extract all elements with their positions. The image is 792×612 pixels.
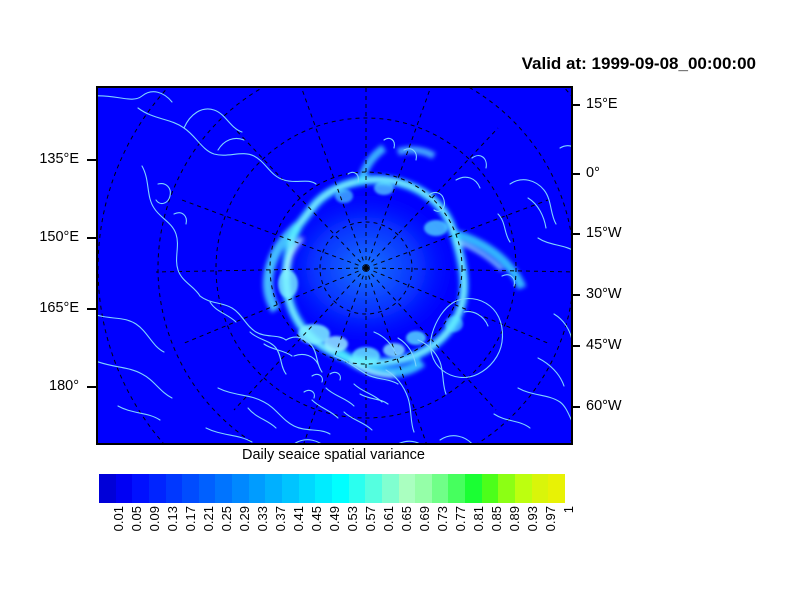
- right-tick-mark: [571, 104, 580, 106]
- colorbar-segment: [432, 474, 449, 503]
- colorbar-tick-label: 0.09: [148, 506, 161, 531]
- right-tick-mark: [571, 294, 580, 296]
- colorbar-segment: [116, 474, 133, 503]
- left-tick-mark: [87, 386, 96, 388]
- colorbar-tick-labels: 0.010.050.090.130.170.210.250.290.330.37…: [98, 506, 566, 566]
- left-tick-label: 180°: [49, 379, 79, 394]
- colorbar-tick-label: 0.85: [490, 506, 503, 531]
- colorbar-tick-label: 0.57: [364, 506, 377, 531]
- colorbar-segment: [332, 474, 349, 503]
- colorbar-segment: [132, 474, 149, 503]
- right-tick-label: 45°W: [586, 338, 622, 353]
- colorbar-segment: [415, 474, 432, 503]
- colorbar-tick-label: 0.21: [202, 506, 215, 531]
- colorbar-segment: [199, 474, 216, 503]
- colorbar-tick-label: 0.17: [184, 506, 197, 531]
- colorbar-tick-label: 0.93: [526, 506, 539, 531]
- right-tick-mark: [571, 233, 580, 235]
- colorbar-tick-label: 0.73: [436, 506, 449, 531]
- colorbar-segment: [498, 474, 515, 503]
- colorbar-segment: [548, 474, 565, 503]
- colorbar-tick-label: 0.97: [544, 506, 557, 531]
- page-title: Valid at: 1999-09-08_00:00:00: [522, 54, 756, 74]
- right-tick-label: 30°W: [586, 287, 622, 302]
- left-tick-mark: [87, 159, 96, 161]
- right-tick-label: 15°W: [586, 226, 622, 241]
- right-tick-label: 60°W: [586, 399, 622, 414]
- colorbar-tick-label: 0.25: [220, 506, 233, 531]
- left-tick-label: 165°E: [39, 301, 79, 316]
- left-tick-mark: [87, 237, 96, 239]
- colorbar-segment: [482, 474, 499, 503]
- colorbar-segment: [465, 474, 482, 503]
- left-tick-label: 135°E: [39, 152, 79, 167]
- colorbar-tick-label: 0.41: [292, 506, 305, 531]
- colorbar-tick-label: 0.13: [166, 506, 179, 531]
- colorbar-tick-label: 0.53: [346, 506, 359, 531]
- colorbar-segment: [232, 474, 249, 503]
- colorbar[interactable]: [98, 473, 566, 504]
- colorbar-tick-label: 0.89: [508, 506, 521, 531]
- right-tick-label: 15°E: [586, 97, 618, 112]
- colorbar-tick-label: 0.81: [472, 506, 485, 531]
- colorbar-tick-label: 0.77: [454, 506, 467, 531]
- colorbar-tick-label: 0.45: [310, 506, 323, 531]
- colorbar-tick-label: 0.65: [400, 506, 413, 531]
- colorbar-segment: [382, 474, 399, 503]
- colorbar-tick-label: 0.33: [256, 506, 269, 531]
- colorbar-tick-label: 0.49: [328, 506, 341, 531]
- colorbar-segment: [265, 474, 282, 503]
- figure-canvas: Valid at: 1999-09-08_00:00:00: [0, 0, 792, 612]
- map-plot-area[interactable]: [96, 86, 573, 445]
- colorbar-segment: [448, 474, 465, 503]
- colorbar-gradient[interactable]: [98, 473, 566, 504]
- colorbar-segment: [215, 474, 232, 503]
- right-tick-mark: [571, 173, 580, 175]
- colorbar-caption: Daily seaice spatial variance: [96, 447, 571, 463]
- colorbar-segment: [365, 474, 382, 503]
- colorbar-segment: [166, 474, 183, 503]
- left-tick-mark: [87, 308, 96, 310]
- left-tick-label: 150°E: [39, 230, 79, 245]
- colorbar-tick-label: 0.37: [274, 506, 287, 531]
- colorbar-segment: [299, 474, 316, 503]
- colorbar-tick-label: 1: [562, 506, 575, 513]
- colorbar-segment: [99, 474, 116, 503]
- colorbar-tick-label: 0.01: [112, 506, 125, 531]
- colorbar-segment: [315, 474, 332, 503]
- colorbar-segment: [149, 474, 166, 503]
- colorbar-segment: [349, 474, 366, 503]
- colorbar-segment: [532, 474, 549, 503]
- colorbar-segment: [399, 474, 416, 503]
- right-tick-label: 0°: [586, 166, 600, 181]
- colorbar-tick-label: 0.61: [382, 506, 395, 531]
- colorbar-segment: [282, 474, 299, 503]
- colorbar-tick-label: 0.05: [130, 506, 143, 531]
- right-tick-mark: [571, 345, 580, 347]
- colorbar-segment: [182, 474, 199, 503]
- map-canvas: [98, 88, 571, 443]
- colorbar-tick-label: 0.69: [418, 506, 431, 531]
- colorbar-segment: [515, 474, 532, 503]
- colorbar-segment: [249, 474, 266, 503]
- colorbar-tick-label: 0.29: [238, 506, 251, 531]
- right-tick-mark: [571, 406, 580, 408]
